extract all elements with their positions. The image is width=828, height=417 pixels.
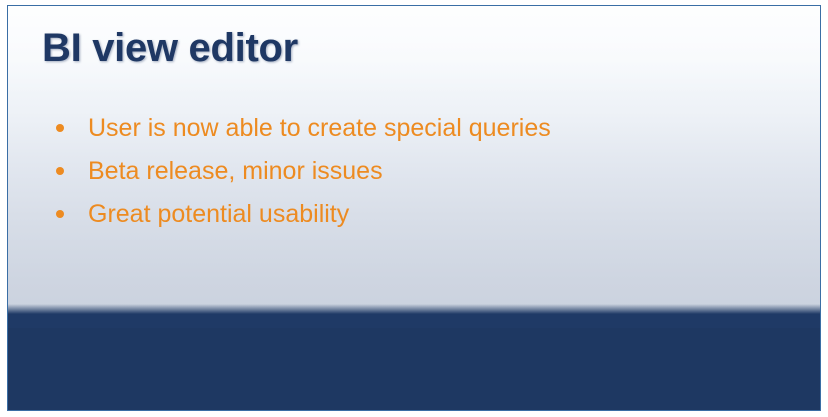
bullet-text: Beta release, minor issues (88, 157, 383, 185)
slide-footer-band (8, 314, 820, 410)
slide-bullet-list: User is now able to create special queri… (48, 111, 748, 240)
footer-band-blend (8, 304, 820, 314)
presentation-slide: BI view editor User is now able to creat… (7, 5, 821, 411)
bullet-text: Great potential usability (88, 200, 349, 228)
bullet-dot-icon (56, 210, 64, 218)
bullet-dot-icon (56, 124, 64, 132)
list-item: Beta release, minor issues (48, 154, 748, 188)
list-item: User is now able to create special queri… (48, 111, 748, 145)
list-item: Great potential usability (48, 197, 748, 231)
slide-canvas: BI view editor User is now able to creat… (0, 0, 828, 417)
slide-footer-band-inner (8, 328, 820, 410)
bullet-text: User is now able to create special queri… (88, 114, 551, 142)
bullet-dot-icon (56, 167, 64, 175)
slide-title: BI view editor (42, 26, 298, 71)
